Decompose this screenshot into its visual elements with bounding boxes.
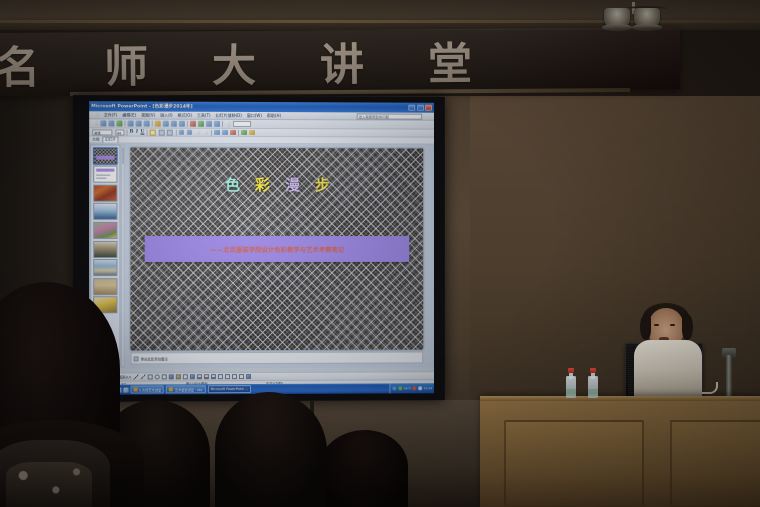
slide-thumbnail[interactable]	[93, 259, 117, 276]
water-bottle	[588, 368, 598, 398]
3d-style-icon[interactable]	[245, 374, 250, 379]
align-right-icon[interactable]	[167, 129, 173, 135]
banner-char: 名	[0, 32, 42, 95]
close-icon[interactable]	[425, 104, 432, 110]
menu-window[interactable]: 窗口(W)	[247, 112, 262, 118]
audience-clothing-pattern	[6, 462, 92, 507]
title-char-4: 步	[315, 174, 330, 195]
podium-panel-left	[504, 420, 644, 507]
maximize-icon[interactable]	[417, 104, 424, 110]
taskbar-item-powerpoint[interactable]: Microsoft PowerPoint ...	[208, 385, 251, 393]
tab-outline[interactable]: 大纲	[92, 137, 99, 142]
media-player-icon[interactable]	[123, 387, 128, 392]
slide-thumbnail[interactable]	[93, 203, 117, 220]
print-preview-icon[interactable]	[136, 121, 142, 127]
banner-char: 师	[104, 31, 151, 95]
align-left-icon[interactable]	[150, 129, 156, 135]
ceiling-light-rig	[604, 2, 674, 30]
menu-view[interactable]: 视图(V)	[141, 112, 155, 118]
current-slide[interactable]: 色 彩 漫 步 ——北京服装学院设计色彩教学与艺术考察笔记	[131, 148, 424, 351]
speaker-body	[634, 340, 702, 400]
decrease-font-icon[interactable]	[203, 130, 209, 136]
window-title: Microsoft PowerPoint - [色彩漫步2014年]	[91, 103, 192, 109]
weather-icon[interactable]	[398, 386, 402, 390]
menu-insert[interactable]: 插入(I)	[160, 112, 172, 118]
spotlight-icon	[604, 8, 630, 28]
open-folder-icon[interactable]	[100, 121, 106, 127]
powerpoint-window: Microsoft PowerPoint - [色彩漫步2014年] 文件(F)…	[89, 101, 434, 395]
increase-indent-icon[interactable]	[222, 130, 228, 136]
clip-art-icon[interactable]	[182, 374, 187, 379]
wordart-icon[interactable]	[168, 374, 173, 379]
diagram-icon[interactable]	[175, 374, 180, 379]
slide-title[interactable]: 色 彩 漫 步	[145, 174, 410, 196]
notes-pane[interactable]: 单击此处添加备注	[131, 351, 424, 364]
slide-thumbnail[interactable]	[93, 147, 117, 164]
slide-thumbnail[interactable]	[93, 241, 117, 258]
align-center-icon[interactable]	[159, 129, 165, 135]
slide-subtitle-band[interactable]: ——北京服装学院设计色彩教学与艺术考察笔记	[145, 236, 410, 262]
audience-member	[215, 392, 327, 507]
podium-surface	[480, 396, 760, 401]
new-slide-icon[interactable]	[225, 121, 231, 127]
bold-button[interactable]: B	[130, 130, 134, 135]
insert-chart-icon[interactable]	[206, 121, 212, 127]
tab-slides[interactable]: 幻灯片	[102, 136, 118, 142]
decrease-indent-icon[interactable]	[214, 130, 220, 136]
speaker-eye-right	[670, 324, 675, 326]
new-slide-button[interactable]	[249, 130, 255, 136]
right-wall-panel	[470, 96, 760, 406]
podium	[480, 396, 760, 507]
insert-picture-icon[interactable]	[189, 374, 194, 379]
slide-subtitle: ——北京服装学院设计色彩教学与艺术考察笔记	[210, 244, 344, 253]
taskbar-item[interactable]: 艺术鉴赏讲堂 - Mic	[166, 385, 205, 393]
font-name-select[interactable]: 宋体	[92, 129, 112, 135]
font-color-picker-icon[interactable]	[210, 374, 215, 379]
document-icon	[169, 387, 173, 391]
title-char-2: 彩	[255, 174, 270, 195]
speaker-eye-left	[654, 324, 659, 326]
redo-icon[interactable]	[198, 121, 204, 127]
lecture-hall-scene: 名 师 大 讲 堂 Microsoft PowerPoint - [色彩漫步20…	[0, 0, 760, 507]
arrow-style-icon[interactable]	[231, 374, 236, 379]
banner-shadow	[500, 27, 681, 91]
slide-thumbnail[interactable]	[93, 166, 117, 183]
taskbar-item-label: 3.大师艺术讲堂	[139, 387, 161, 392]
scrollbar-thumb[interactable]	[122, 148, 124, 164]
notes-placeholder: 单击此处添加备注	[141, 356, 168, 361]
menu-tools[interactable]: 工具(T)	[197, 112, 211, 118]
menu-format[interactable]: 格式(O)	[178, 112, 192, 118]
venue-banner: 名 师 大 讲 堂	[0, 27, 680, 95]
rectangle-icon[interactable]	[147, 374, 152, 379]
taskbar-item-label: 艺术鉴赏讲堂 - Mic	[175, 387, 203, 392]
slide-design-icon[interactable]	[241, 130, 247, 136]
water-bottle	[566, 368, 576, 398]
minimize-icon[interactable]	[408, 104, 415, 110]
editor-body: 色 彩 漫 步 ——北京服装学院设计色彩教学与艺术考察笔记 单击此处添加	[89, 143, 434, 368]
notes-icon	[134, 356, 139, 361]
menu-help[interactable]: 帮助(H)	[267, 113, 281, 119]
permission-icon[interactable]	[116, 121, 122, 127]
font-color-icon[interactable]	[230, 130, 236, 136]
microphone-stand	[726, 355, 732, 399]
undo-icon[interactable]	[190, 121, 196, 127]
print-icon[interactable]	[128, 121, 134, 127]
volume-icon[interactable]	[418, 386, 422, 390]
ask-a-question-input[interactable]: 键入需要帮助的问题	[357, 113, 422, 119]
spotlight-icon	[634, 8, 660, 28]
slide-thumbnail[interactable]	[93, 222, 117, 239]
slide-editing-area[interactable]: 色 彩 漫 步 ——北京服装学院设计色彩教学与艺术考察笔记 单击此处添加	[125, 146, 428, 367]
line-icon[interactable]	[133, 374, 138, 379]
font-size-select[interactable]: 44	[115, 129, 124, 135]
taskbar-item-label: Microsoft PowerPoint ...	[211, 387, 248, 391]
slide-thumbnail[interactable]	[93, 278, 117, 295]
menu-file[interactable]: 文件(F)	[104, 112, 118, 118]
copy-icon[interactable]	[171, 121, 177, 127]
projection-screen: Microsoft PowerPoint - [色彩漫步2014年] 文件(F)…	[73, 95, 445, 402]
bulleted-list-icon[interactable]	[187, 129, 193, 135]
research-icon[interactable]	[155, 121, 161, 127]
folder-icon	[133, 388, 137, 392]
projected-image: Microsoft PowerPoint - [色彩漫步2014年] 文件(F)…	[89, 101, 434, 395]
menu-slideshow[interactable]: 幻灯片放映(D)	[216, 112, 242, 118]
fill-color-icon[interactable]	[196, 374, 201, 379]
system-tray[interactable]: 26°C 15:29	[390, 383, 434, 393]
app-icon	[93, 112, 99, 118]
podium-panel-right	[670, 420, 760, 507]
oval-icon[interactable]	[154, 374, 159, 379]
antivirus-icon[interactable]	[413, 386, 417, 390]
banner-char: 讲	[320, 29, 367, 93]
zoom-select[interactable]	[233, 121, 251, 127]
text-box-icon[interactable]	[161, 374, 166, 379]
banner-char: 堂	[428, 28, 475, 92]
title-char-3: 漫	[285, 174, 300, 195]
save-icon[interactable]	[108, 121, 114, 127]
banner-char: 大	[212, 30, 259, 94]
audience-member	[318, 430, 408, 507]
shadow-style-icon[interactable]	[238, 374, 243, 379]
numbered-list-icon[interactable]	[179, 129, 185, 135]
banner-text: 名 师 大 讲 堂	[0, 31, 650, 91]
spelling-icon[interactable]	[144, 121, 150, 127]
new-file-icon[interactable]	[92, 121, 98, 127]
line-style-icon[interactable]	[217, 374, 222, 379]
taskbar-item[interactable]: 3.大师艺术讲堂	[130, 386, 164, 394]
window-controls[interactable]	[408, 104, 432, 110]
cut-icon[interactable]	[163, 121, 169, 127]
italic-button[interactable]: I	[136, 130, 138, 135]
underline-button[interactable]: U	[140, 130, 144, 135]
paste-icon[interactable]	[179, 121, 185, 127]
tray-temperature: 26°C	[404, 386, 411, 390]
thumbnail-scrollbar[interactable]	[121, 145, 124, 368]
tray-clock: 15:29	[423, 386, 432, 390]
menu-edit[interactable]: 编辑(E)	[122, 112, 136, 118]
speaker-hair-right	[682, 314, 693, 340]
network-icon[interactable]	[393, 386, 397, 390]
line-color-icon[interactable]	[203, 374, 208, 379]
increase-font-icon[interactable]	[195, 130, 201, 136]
title-char-1: 色	[225, 174, 240, 195]
insert-table-icon[interactable]	[214, 121, 220, 127]
arrow-icon[interactable]	[140, 374, 145, 379]
dash-style-icon[interactable]	[224, 374, 229, 379]
slide-thumbnail[interactable]	[93, 184, 117, 201]
speaker-hair-left	[640, 314, 651, 340]
